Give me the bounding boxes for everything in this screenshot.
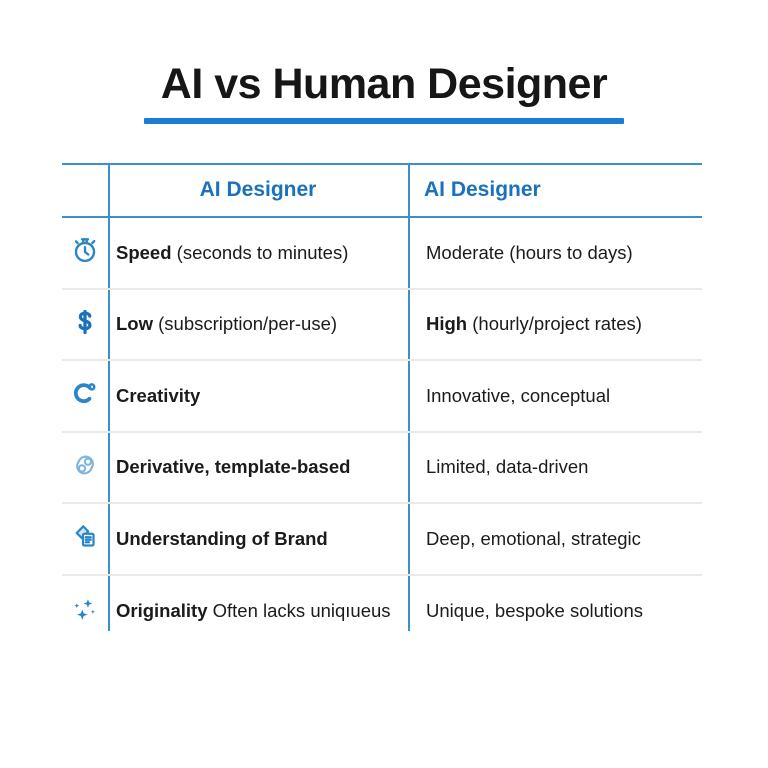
row-value-rest: Limited, data-driven <box>426 456 588 477</box>
row-feature-cell: Originality Often lacks uniqıueus <box>108 576 408 648</box>
brand-document-icon <box>70 521 100 556</box>
row-feature-rest: (subscription/per-use) <box>153 313 337 334</box>
row-value-cell: Deep, emotional, strategic <box>410 504 702 574</box>
row-value-rest: Unique, bespoke solutions <box>426 600 643 621</box>
row-feature-lead: Derivative, template-based <box>116 456 350 477</box>
row-value-cell: High (hourly/project rates) <box>410 290 702 360</box>
row-value-cell: Limited, data-driven <box>410 433 702 503</box>
link-chain-icon <box>70 450 100 485</box>
row-icon-cell <box>62 576 108 648</box>
row-value-text: Moderate (hours to days) <box>426 242 633 264</box>
table-row: Understanding of Brand Deep, emotional, … <box>62 504 702 576</box>
row-value-text: High (hourly/project rates) <box>426 313 642 335</box>
row-feature-cell: Creativity <box>108 361 408 431</box>
row-icon-cell <box>62 361 108 431</box>
row-value-cell: Unique, bespoke solutions <box>410 576 702 648</box>
row-feature-lead: Originality <box>116 600 208 621</box>
row-feature-text: Originality Often lacks uniqıueus <box>116 600 391 622</box>
row-feature-text: Understanding of Brand <box>116 528 328 550</box>
title-underline-rule <box>144 118 624 124</box>
row-feature-lead: Speed <box>116 242 172 263</box>
row-value-rest: (hourly/project rates) <box>467 313 642 334</box>
row-icon-cell <box>62 504 108 574</box>
row-feature-text: Derivative, template-based <box>116 456 350 478</box>
column-header-ai-designer: AI Designer <box>108 178 408 202</box>
row-value-rest: Moderate (hours to days) <box>426 242 633 263</box>
table-header-row: AI Designer AI Designer <box>62 163 702 218</box>
row-value-text: Deep, emotional, strategic <box>426 528 641 550</box>
page-title: AI vs Human Designer <box>0 62 768 107</box>
row-feature-lead: Understanding of Brand <box>116 528 328 549</box>
row-value-text: Innovative, conceptual <box>426 385 610 407</box>
row-value-cell: Moderate (hours to days) <box>410 218 702 288</box>
row-value-rest: Innovative, conceptual <box>426 385 610 406</box>
page-title-block: AI vs Human Designer <box>0 62 768 124</box>
row-value-rest: Deep, emotional, strategic <box>426 528 641 549</box>
row-feature-cell: Low (subscription/per-use) <box>108 290 408 360</box>
dollar-sign-icon <box>70 307 100 342</box>
row-icon-cell <box>62 290 108 360</box>
row-icon-cell <box>62 218 108 288</box>
creativity-icon <box>70 378 100 413</box>
comparison-table: AI Designer AI Designer <box>62 163 702 631</box>
row-value-lead: High <box>426 313 467 334</box>
row-feature-cell: Understanding of Brand <box>108 504 408 574</box>
table-row: Originality Often lacks uniqıueus Unique… <box>62 576 702 648</box>
row-feature-lead: Creativity <box>116 385 200 406</box>
row-feature-text: Speed (seconds to minutes) <box>116 242 348 264</box>
row-feature-lead: Low <box>116 313 153 334</box>
table-body: Speed (seconds to minutes) Moderate (hou… <box>62 218 702 647</box>
table-row: Low (subscription/per-use) High (hourly/… <box>62 290 702 362</box>
row-feature-text: Creativity <box>116 385 200 407</box>
row-value-cell: Innovative, conceptual <box>410 361 702 431</box>
column-header-human-designer: AI Designer <box>424 178 541 202</box>
table-row: Creativity Innovative, conceptual <box>62 361 702 433</box>
stopwatch-icon <box>70 235 100 270</box>
row-icon-cell <box>62 433 108 503</box>
row-value-text: Limited, data-driven <box>426 456 588 478</box>
sparkles-icon <box>69 594 101 629</box>
table-row: Speed (seconds to minutes) Moderate (hou… <box>62 218 702 290</box>
row-feature-rest: Often lacks uniqıueus <box>208 600 391 621</box>
table-row: Derivative, template-based Limited, data… <box>62 433 702 505</box>
row-feature-rest: (seconds to minutes) <box>172 242 349 263</box>
row-feature-text: Low (subscription/per-use) <box>116 313 337 335</box>
row-feature-cell: Derivative, template-based <box>108 433 408 503</box>
row-value-text: Unique, bespoke solutions <box>426 600 643 622</box>
row-feature-cell: Speed (seconds to minutes) <box>108 218 408 288</box>
